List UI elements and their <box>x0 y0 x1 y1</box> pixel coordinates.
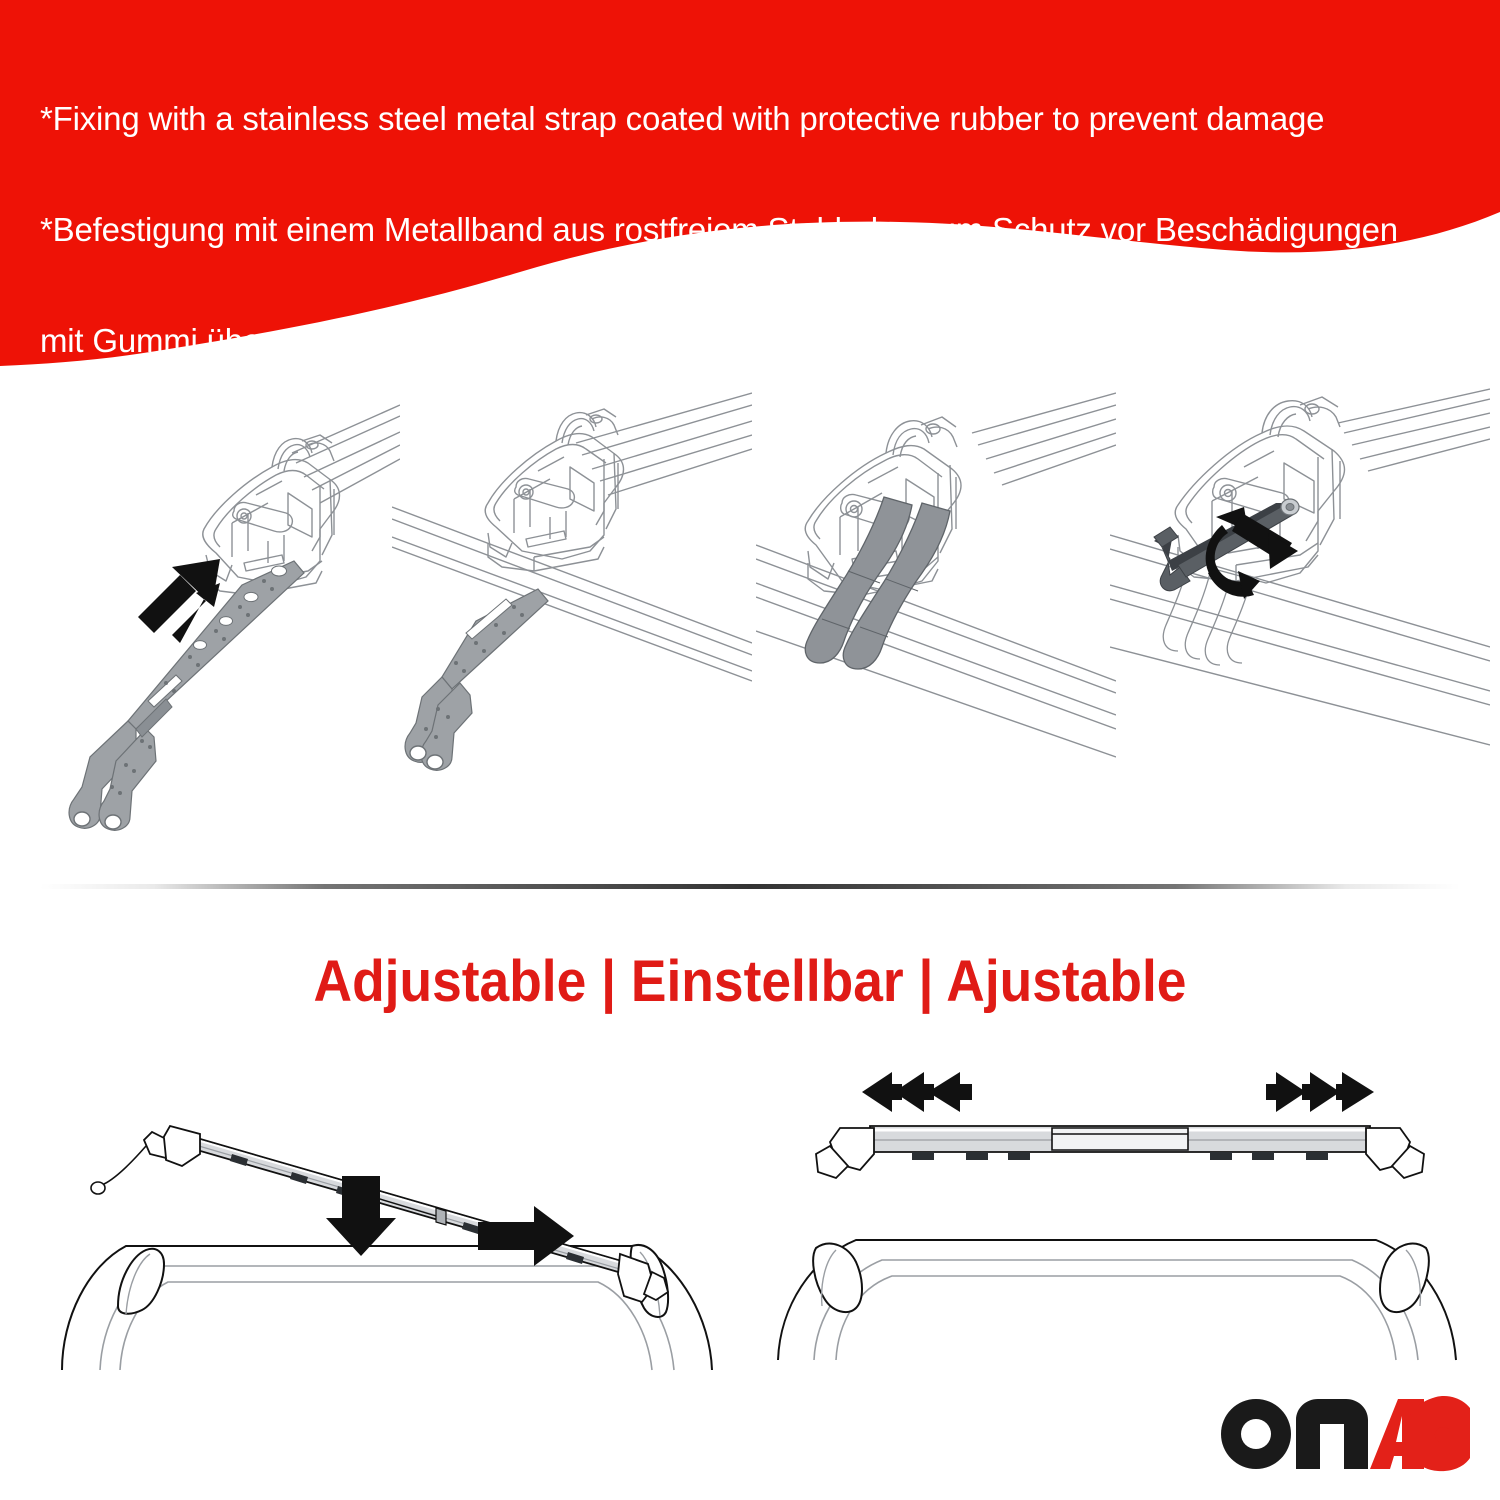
logo-letter-o <box>1221 1399 1291 1469</box>
omac-logo-mark <box>1218 1386 1470 1472</box>
step-1-insert-strap-into-foot <box>20 385 400 855</box>
omac-logo <box>1218 1386 1470 1472</box>
rubber-coated-strap <box>805 497 950 669</box>
logo-letter-m <box>1296 1399 1368 1469</box>
step-4-tighten-with-allen-key <box>1110 385 1490 855</box>
arrow-right-icon <box>478 1206 574 1266</box>
adjustable-diagrams-row <box>0 1070 1500 1400</box>
section-divider <box>40 884 1460 889</box>
arrow-left-triple-icon <box>862 1072 972 1112</box>
banner-line-1: *Fixing with a stainless steel metal str… <box>40 100 1460 137</box>
step-2-illustration <box>392 385 752 855</box>
step-3-illustration <box>756 385 1116 855</box>
banner-line-2: *Befestigung mit einem Metallband aus ro… <box>40 211 1460 248</box>
diagram-lower-crossbar <box>40 1070 740 1400</box>
step-2-foot-placed-on-rail <box>392 385 752 855</box>
adjustable-heading: Adjustable | Einstellbar | Ajustable <box>60 948 1440 1015</box>
step-4-illustration <box>1110 385 1490 855</box>
red-banner: *Fixing with a stainless steel metal str… <box>0 0 1500 380</box>
metal-strap <box>405 589 548 770</box>
metal-strap <box>69 561 304 830</box>
banner-line-3: mit Gummi überzogen ist <box>40 322 1460 359</box>
diagram-slide-crossbar <box>770 1070 1470 1400</box>
step-3-strap-wrapped-around-rail <box>756 385 1116 855</box>
lower-crossbar-illustration <box>40 1070 740 1400</box>
installation-steps-row <box>0 385 1500 855</box>
slide-crossbar-illustration <box>770 1070 1470 1400</box>
step-1-illustration <box>20 385 400 855</box>
product-infographic-page: *Fixing with a stainless steel metal str… <box>0 0 1500 1500</box>
arrow-right-triple-icon <box>1266 1072 1374 1112</box>
